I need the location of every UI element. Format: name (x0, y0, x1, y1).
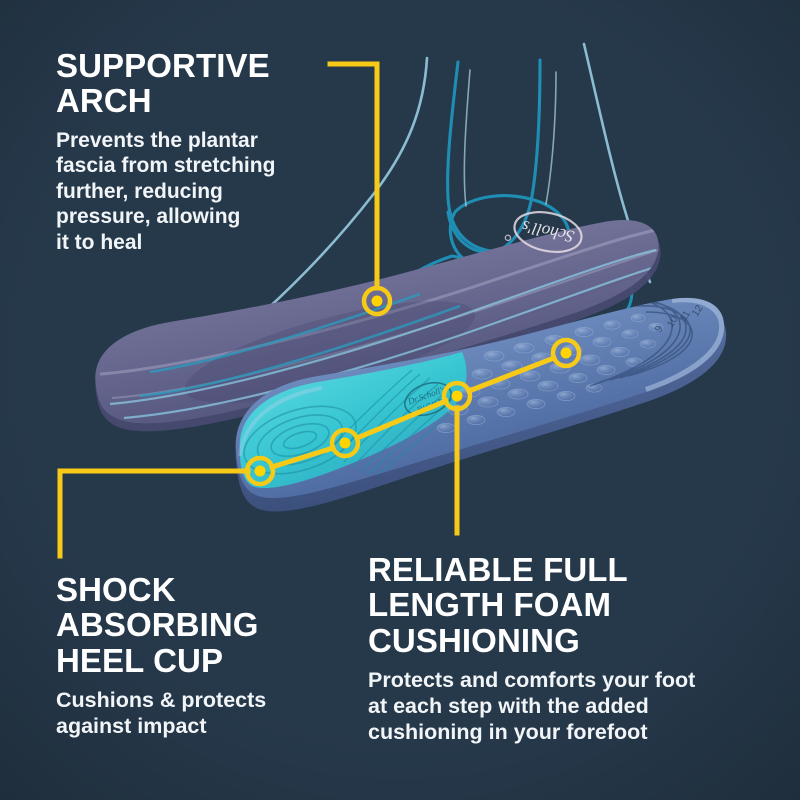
title-line: ARCH (56, 82, 152, 119)
title-line: LENGTH FOAM (368, 586, 611, 623)
body-line: pressure, allowing (56, 205, 240, 228)
body-line: against impact (56, 714, 207, 738)
callout-title-reliable-full-length-foam-cushioning: RELIABLE FULL LENGTH FOAM CUSHIONING (368, 552, 768, 658)
callout-title-supportive-arch: SUPPORTIVE ARCH (56, 48, 334, 119)
title-line: CUSHIONING (368, 622, 580, 659)
body-line: cushioning in your forefoot (368, 720, 647, 744)
callout-shock-absorbing-heel-cup: SHOCK ABSORBING HEEL CUP Cushions & prot… (56, 572, 346, 739)
body-line: Prevents the plantar (56, 129, 258, 152)
callout-body-reliable-full-length-foam-cushioning: Protects and comforts your foot at each … (368, 667, 768, 746)
title-line: RELIABLE FULL (368, 551, 628, 588)
title-line: SHOCK (56, 571, 176, 608)
callout-body-shock-absorbing-heel-cup: Cushions & protects against impact (56, 687, 346, 739)
title-line: ABSORBING (56, 606, 259, 643)
body-line: at each step with the added (368, 694, 649, 718)
callout-title-shock-absorbing-heel-cup: SHOCK ABSORBING HEEL CUP (56, 572, 346, 678)
body-line: it to heal (56, 231, 142, 254)
infographic-canvas: Scholl's (0, 0, 800, 800)
body-line: Cushions & protects (56, 688, 266, 712)
callout-reliable-full-length-foam-cushioning: RELIABLE FULL LENGTH FOAM CUSHIONING Pro… (368, 552, 768, 746)
callout-body-supportive-arch: Prevents the plantar fascia from stretch… (56, 128, 334, 256)
callout-supportive-arch: SUPPORTIVE ARCH Prevents the plantar fas… (56, 48, 334, 256)
title-line: SUPPORTIVE (56, 47, 270, 84)
body-line: further, reducing (56, 180, 223, 203)
title-line: HEEL CUP (56, 642, 223, 679)
body-line: Protects and comforts your foot (368, 668, 695, 692)
body-line: fascia from stretching (56, 154, 275, 177)
